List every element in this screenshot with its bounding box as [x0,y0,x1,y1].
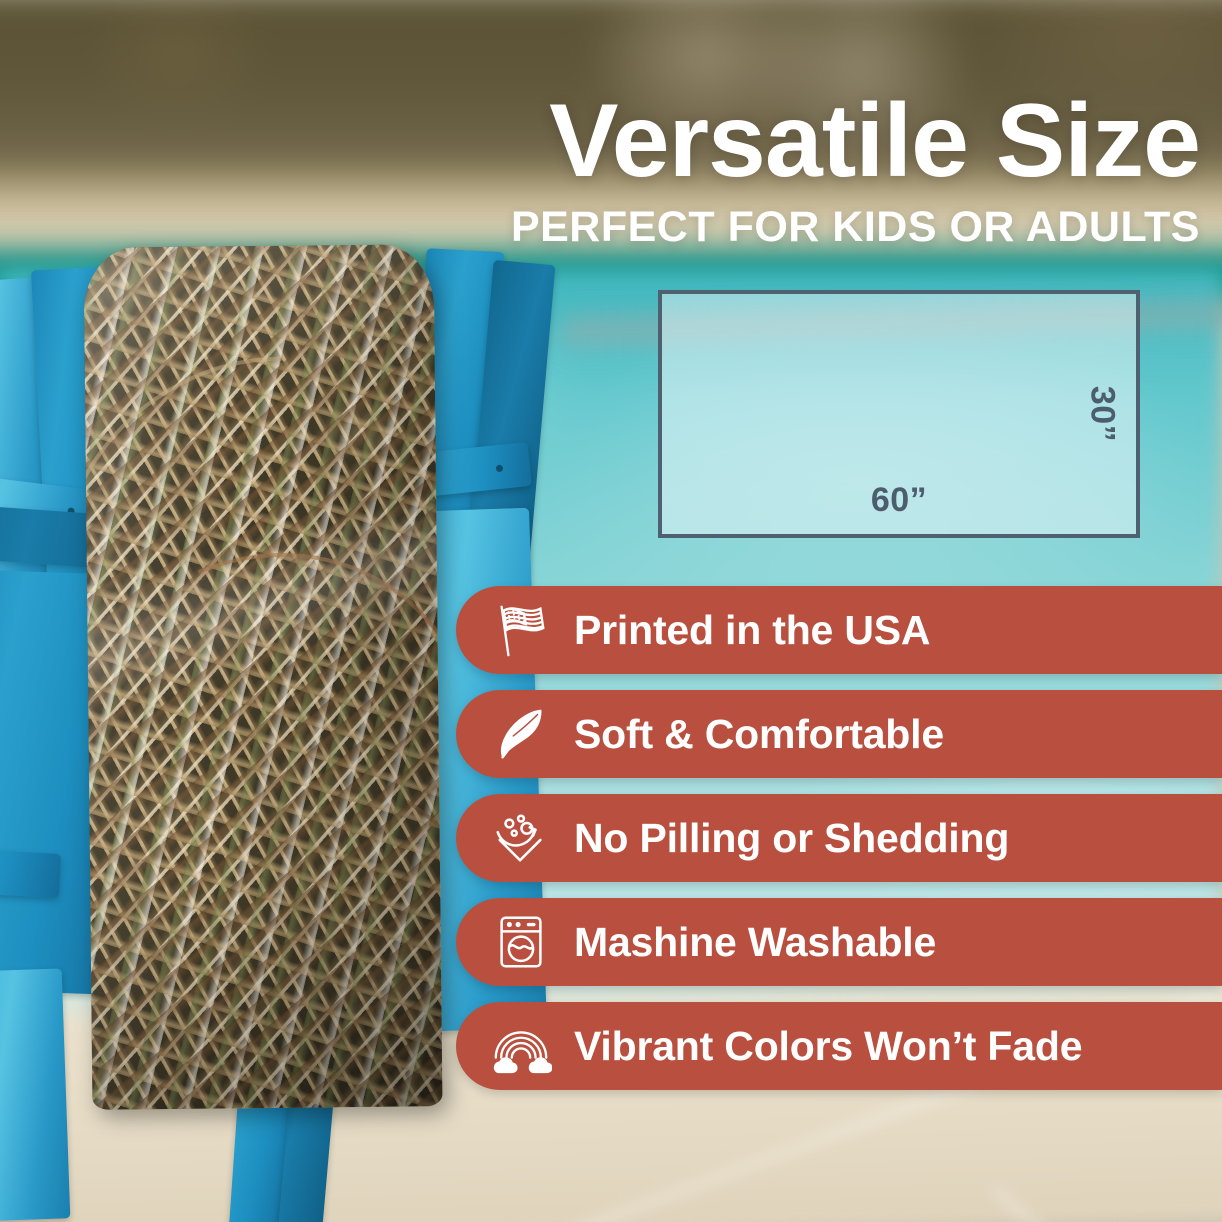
feature-bar-mashine-washable[interactable]: Mashine Washable [456,898,1222,986]
chair-rear-leg [0,968,70,1221]
feature-label: No Pilling or Shedding [574,815,1009,862]
feature-label: Printed in the USA [574,607,930,654]
page-subtitle: PERFECT FOR KIDS OR ADULTS [0,203,1200,252]
usa-flag-icon [490,599,552,661]
towel-shading [83,244,442,1110]
feature-bar-printed-in-the-usa[interactable]: Printed in the USA [456,586,1222,674]
dimension-diagram: 60” 30” [658,290,1140,538]
width-dimension-label: 60” [871,481,927,520]
feature-bar-no-pilling-or-shedding[interactable]: No Pilling or Shedding [456,794,1222,882]
no-pilling-icon [490,807,552,869]
feature-list: Printed in the USA Soft & Comfortable [456,586,1222,1106]
feature-label: Soft & Comfortable [574,711,944,758]
feature-label: Vibrant Colors Won’t Fade [574,1023,1082,1070]
deck-seam [993,1187,1217,1222]
washing-machine-icon [490,911,552,973]
height-dimension-label: 30” [1082,386,1121,442]
rainbow-icon [490,1015,552,1077]
headline-block: Versatile Size PERFECT FOR KIDS OR ADULT… [0,92,1200,252]
feature-bar-vibrant-colors-wont-fade[interactable]: Vibrant Colors Won’t Fade [456,1002,1222,1090]
infographic-canvas: Versatile Size PERFECT FOR KIDS OR ADULT… [0,0,1222,1222]
feather-icon [490,703,552,765]
camo-beach-towel [83,244,442,1110]
feature-label: Mashine Washable [574,919,936,966]
page-title: Versatile Size [0,92,1200,191]
chair-stretcher [0,846,61,898]
feature-bar-soft-and-comfortable[interactable]: Soft & Comfortable [456,690,1222,778]
